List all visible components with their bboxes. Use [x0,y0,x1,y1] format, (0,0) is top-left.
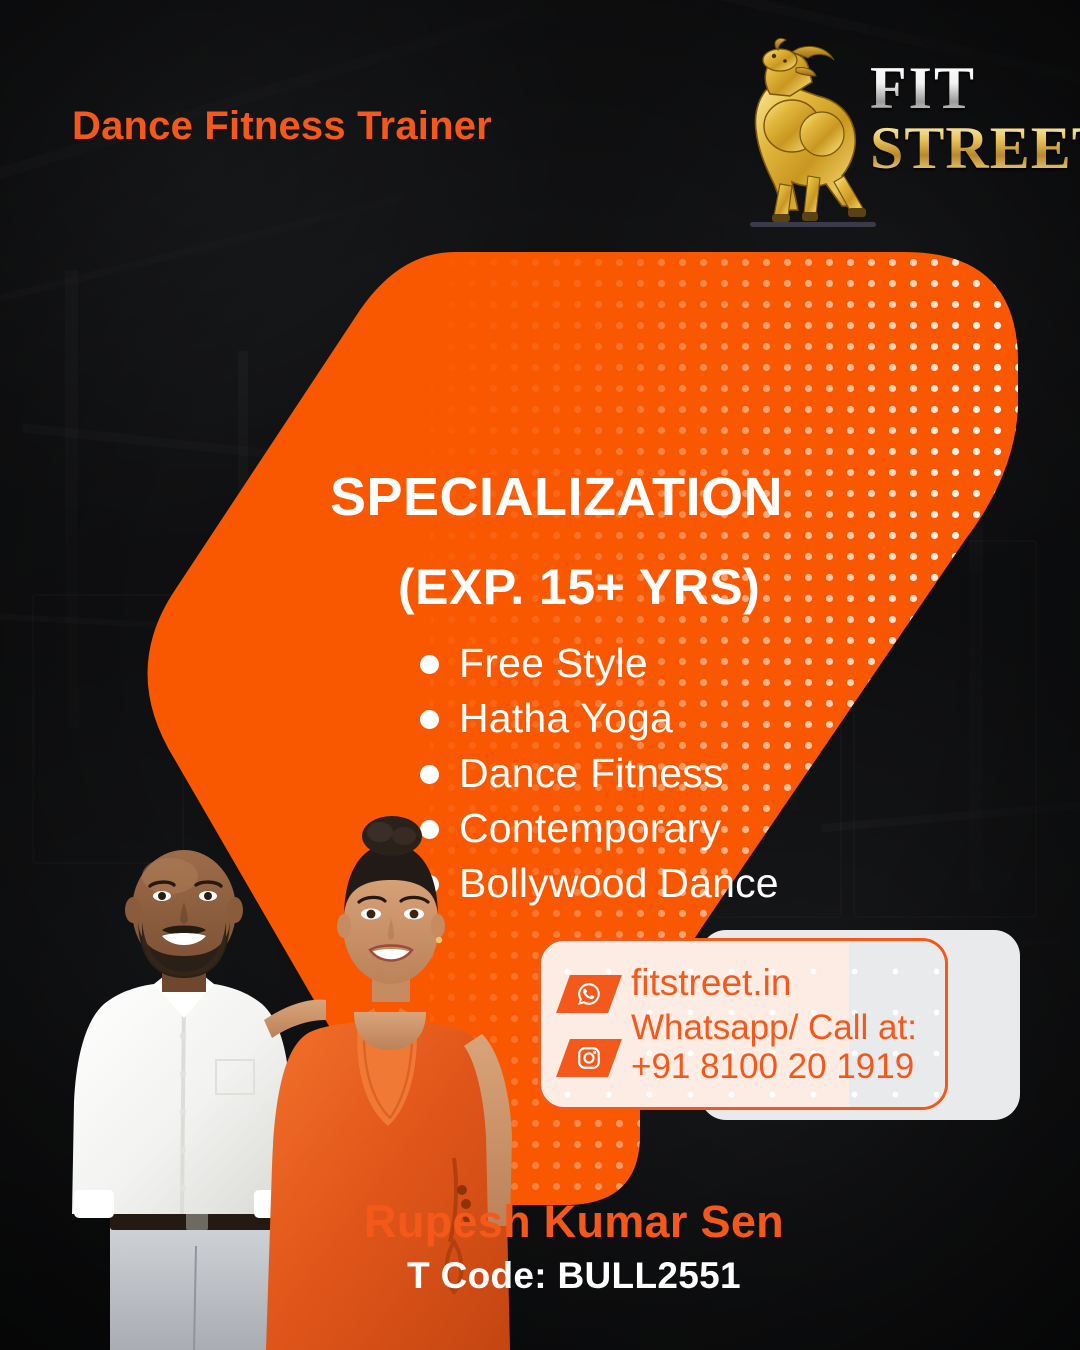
bullet-dot-icon [420,765,439,784]
brand-logo: FIT STREET [730,24,1040,234]
bullet-dot-icon [420,710,439,729]
list-item: Hatha Yoga [420,695,779,742]
instagram-icon[interactable] [556,1039,622,1077]
list-item: Dance Fitness [420,750,779,797]
logo-word-fit: FIT [870,60,1080,118]
list-item-label: Hatha Yoga [459,695,673,742]
trainer-code-text: T Code: BULL2551 [407,1255,741,1297]
page-title: Dance Fitness Trainer [72,104,492,149]
list-item-label: Dance Fitness [459,750,724,797]
list-item: Free Style [420,640,779,687]
trainer-code: T Code: BULL2551 [0,1255,1080,1297]
contact-card: fitstreet.in Whatsapp/ Call at: +91 8100… [538,938,948,1110]
experience-subheading: (EXP. 15+ YRS) [398,558,918,616]
website-text[interactable]: fitstreet.in [631,962,917,1003]
bull-icon [730,34,880,234]
trainer-name-text: Rupesh Kumar Sen [364,1196,784,1248]
list-item-label: Free Style [459,640,648,687]
poster-root: Dance Fitness Trainer [0,0,1080,1350]
specialization-heading: SPECIALIZATION [330,466,890,528]
whatsapp-icon[interactable] [556,975,622,1013]
phone-number[interactable]: +91 8100 20 1919 [631,1047,917,1086]
trainer-name: Rupesh Kumar Sen [0,1196,1080,1248]
logo-word-street: STREET [870,120,1080,178]
bullet-dot-icon [420,655,439,674]
whatsapp-label: Whatsapp/ Call at: [631,1008,917,1047]
